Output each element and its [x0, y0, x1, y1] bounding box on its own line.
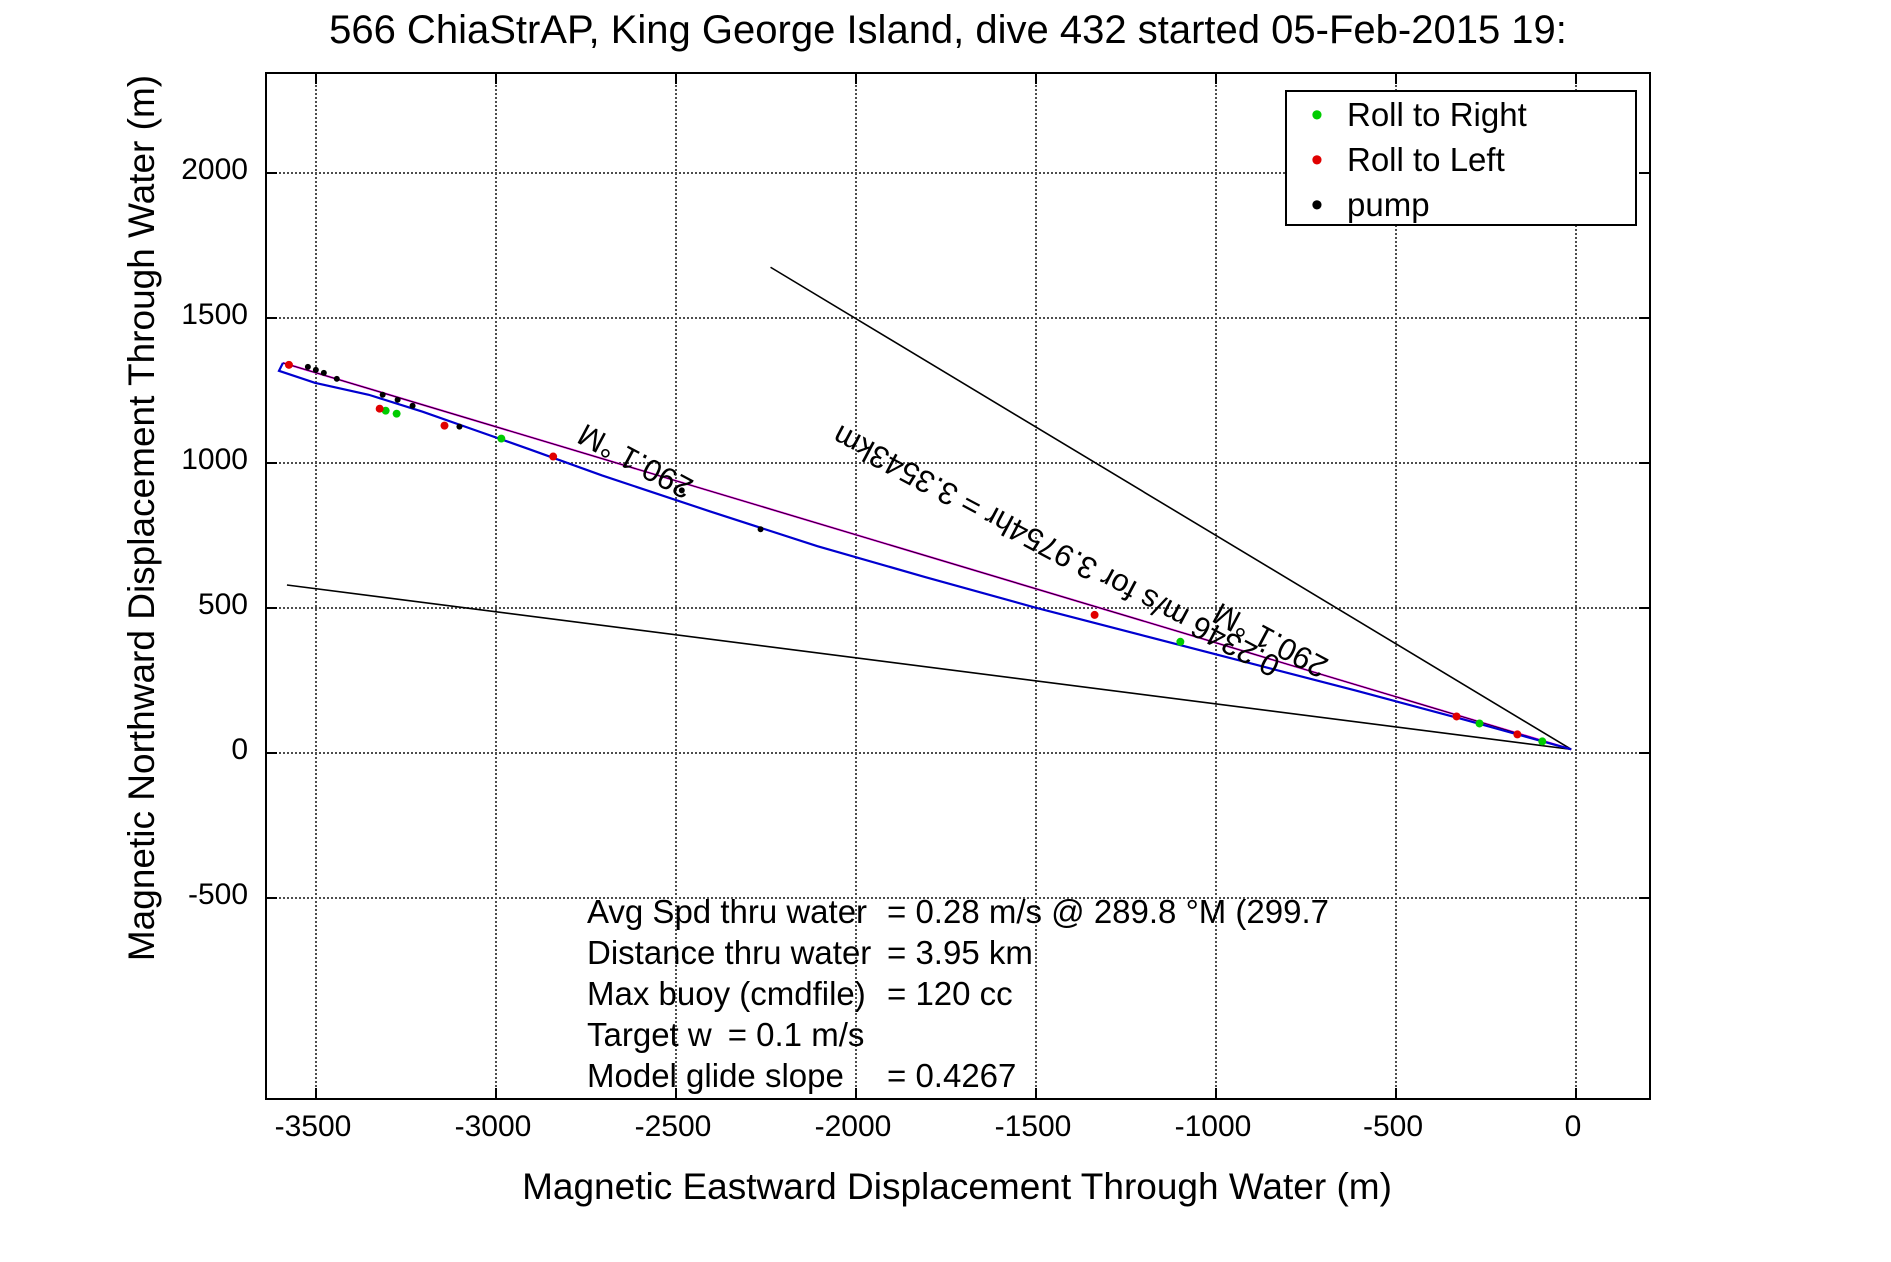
stat-value: = 0.28 m/s @ 289.8 °M (299.7	[887, 891, 1329, 932]
xticklabel: -3500	[233, 1110, 393, 1144]
net-displacement-line-outline	[283, 363, 1571, 749]
ytick-right--500	[1639, 897, 1649, 899]
ytick-right-2000	[1639, 172, 1649, 174]
stat-row: Net glide slope = 0.5008	[587, 1096, 1329, 1098]
stat-label: Avg Spd thru water	[587, 891, 887, 932]
statistics-block: Avg Spd thru water = 0.28 m/s @ 289.8 °M…	[587, 891, 1329, 1098]
xtick-top--2000	[855, 74, 857, 84]
ytick-right-1000	[1639, 462, 1649, 464]
heading-cone-upper	[771, 267, 1572, 749]
yticklabel: 500	[128, 588, 248, 622]
xtick-top--500	[1395, 74, 1397, 84]
gridline-x-0	[1575, 74, 1577, 1098]
xtick--3000	[495, 1088, 497, 1098]
stat-value: = 0.5008	[887, 1096, 1016, 1098]
legend-label: Roll to Right	[1347, 96, 1527, 134]
xticklabel: -3000	[413, 1110, 573, 1144]
legend-label: Roll to Left	[1347, 141, 1505, 179]
xtick-top--2500	[675, 74, 677, 84]
legend-item-pump[interactable]: • pump	[1287, 182, 1635, 227]
stat-value: = 0.1 m/s	[728, 1014, 865, 1055]
legend-marker-pump-icon: •	[1287, 200, 1347, 210]
xticklabel: 0	[1493, 1110, 1653, 1144]
ytick-right-0	[1639, 752, 1649, 754]
pump-markers	[305, 364, 764, 532]
plot-inner: 290.1 °M 0.2346 m/s for 3.9754hr = 3.354…	[267, 74, 1649, 1098]
xticklabel: -1500	[953, 1110, 1113, 1144]
stat-label: Max buoy (cmdfile)	[587, 973, 887, 1014]
stat-label: Target w	[587, 1014, 728, 1055]
gridline-x--500	[1395, 74, 1397, 1098]
roll-to-right-markers	[382, 407, 1547, 746]
stat-value: = 3.95 km	[887, 932, 1033, 973]
gridline-y-500	[267, 607, 1649, 609]
x-axis-label: Magnetic Eastward Displacement Through W…	[262, 1166, 1652, 1208]
xtick-top-0	[1575, 74, 1577, 84]
stat-label: Model glide slope	[587, 1055, 887, 1096]
gridline-x--3500	[315, 74, 317, 1098]
xticklabel: -2000	[773, 1110, 933, 1144]
yticklabel: 2000	[128, 153, 248, 187]
xtick-top--1500	[1035, 74, 1037, 84]
yticklabel: 1000	[128, 443, 248, 477]
annotation-heading-upper: 290.1 °M	[572, 416, 699, 506]
stat-label: Net glide slope	[587, 1096, 887, 1098]
legend-label: pump	[1347, 186, 1430, 224]
xtick--3500	[315, 1088, 317, 1098]
xtick-top--3500	[315, 74, 317, 84]
ytick-0	[267, 752, 277, 754]
stat-row: Avg Spd thru water = 0.28 m/s @ 289.8 °M…	[587, 891, 1329, 932]
ytick-1500	[267, 317, 277, 319]
legend-marker-roll-to-right-icon: •	[1287, 110, 1347, 120]
legend[interactable]: • Roll to Right • Roll to Left • pump	[1285, 90, 1637, 226]
xtick-0	[1575, 1088, 1577, 1098]
stat-value: = 120 cc	[887, 973, 1013, 1014]
ytick-right-500	[1639, 607, 1649, 609]
gridline-y-1500	[267, 317, 1649, 319]
gridline-y-1000	[267, 462, 1649, 464]
net-displacement-line	[283, 363, 1571, 749]
stat-row: Distance thru water = 3.95 km	[587, 932, 1329, 973]
xtick-top--1000	[1215, 74, 1217, 84]
xticklabel: -2500	[593, 1110, 753, 1144]
legend-item-roll-to-left[interactable]: • Roll to Left	[1287, 137, 1635, 182]
ytick-right-1500	[1639, 317, 1649, 319]
stat-row: Model glide slope = 0.4267	[587, 1055, 1329, 1096]
ytick-1000	[267, 462, 277, 464]
stat-value: = 0.4267	[887, 1055, 1016, 1096]
xticklabel: -1000	[1133, 1110, 1293, 1144]
xtick-top--3000	[495, 74, 497, 84]
stat-label: Distance thru water	[587, 932, 887, 973]
yticklabel: 1500	[128, 298, 248, 332]
legend-item-roll-to-right[interactable]: • Roll to Right	[1287, 92, 1635, 137]
gridline-x--3000	[495, 74, 497, 1098]
ytick--500	[267, 897, 277, 899]
gridline-y-0	[267, 752, 1649, 754]
yticklabel: -500	[128, 878, 248, 912]
legend-marker-roll-to-left-icon: •	[1287, 155, 1347, 165]
figure-title: 566 ChiaStrAP, King George Island, dive …	[0, 2, 1891, 58]
ytick-2000	[267, 172, 277, 174]
yticklabel: 0	[128, 733, 248, 767]
xticklabel: -500	[1313, 1110, 1473, 1144]
xtick--500	[1395, 1088, 1397, 1098]
stat-row: Max buoy (cmdfile) = 120 cc	[587, 973, 1329, 1014]
roll-to-left-markers	[285, 361, 1521, 739]
track-through-water	[279, 363, 1571, 749]
ytick-500	[267, 607, 277, 609]
stat-row: Target w = 0.1 m/s	[587, 1014, 1329, 1055]
heading-cone-lower	[287, 585, 1571, 749]
annotation-speed-distance: 0.2346 m/s for 3.9754hr = 3.3543km	[827, 417, 1286, 684]
